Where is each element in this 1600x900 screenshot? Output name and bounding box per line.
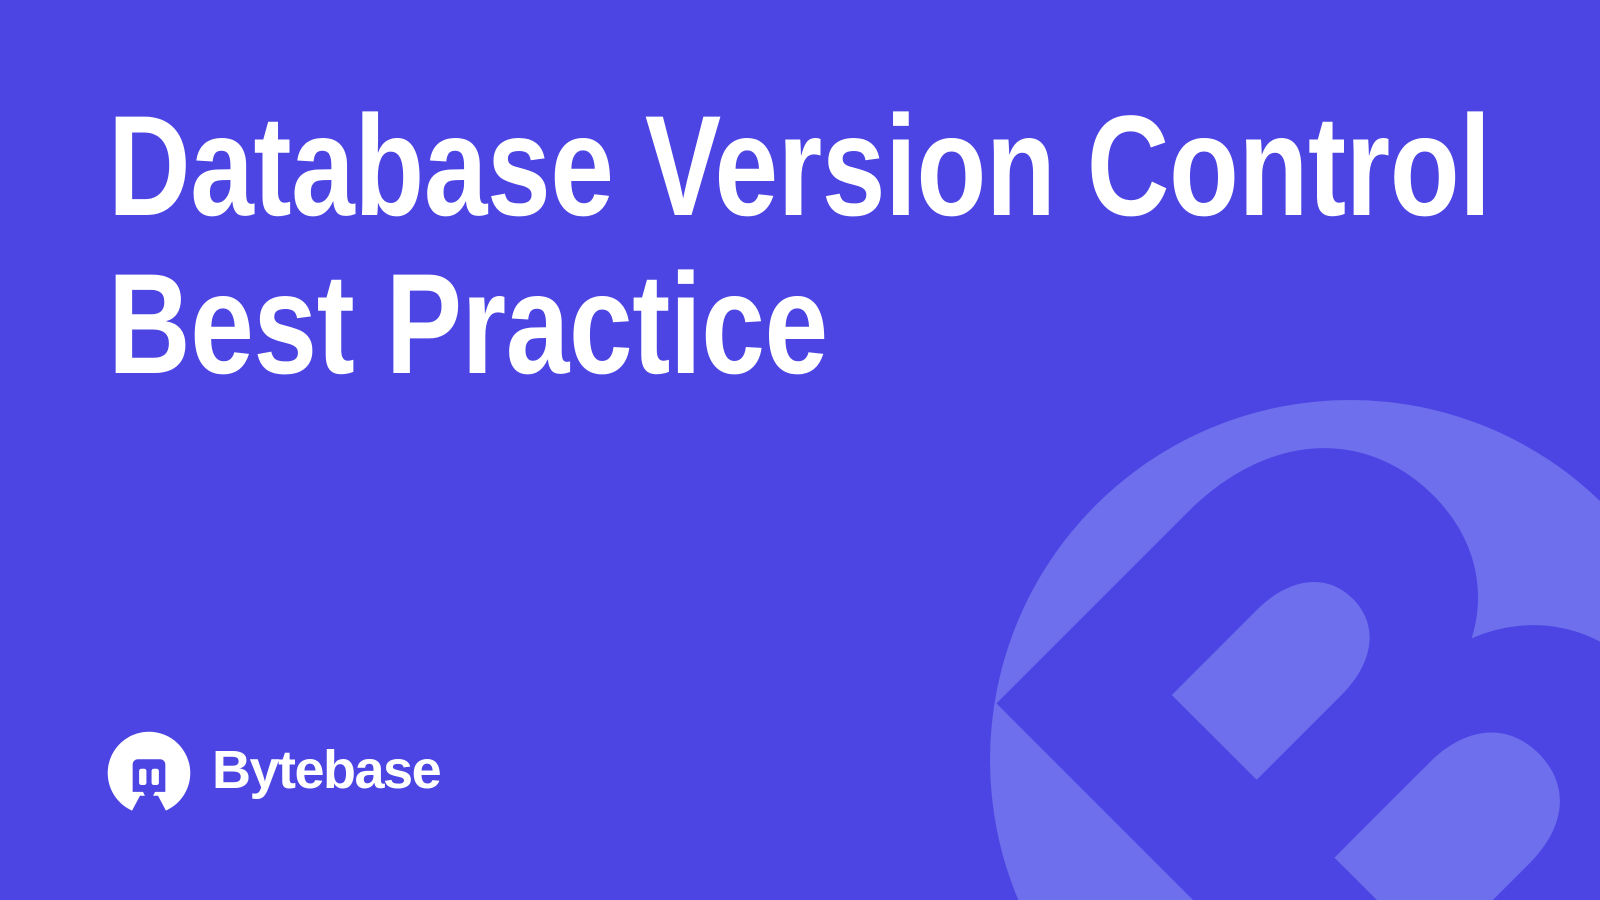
watermark-letter-b <box>996 400 1600 900</box>
watermark-circle <box>990 400 1600 900</box>
brand-wordmark-text: Bytebase <box>212 742 441 800</box>
title-line-1: Database Version Control <box>108 88 1196 246</box>
logo-mark-eye-right <box>152 769 159 785</box>
brand-wordmark: Bytebase <box>212 742 512 804</box>
brand-logo-lockup: Bytebase <box>106 730 512 816</box>
page-title: Database Version Control Best Practice <box>108 88 1468 404</box>
bytebase-b-watermark-icon <box>990 400 1600 900</box>
bytebase-logo-icon <box>106 730 192 816</box>
logo-mark-eye-left <box>139 769 146 785</box>
cover-banner: Database Version Control Best Practice B… <box>0 0 1600 900</box>
title-line-2: Best Practice <box>108 246 1196 404</box>
